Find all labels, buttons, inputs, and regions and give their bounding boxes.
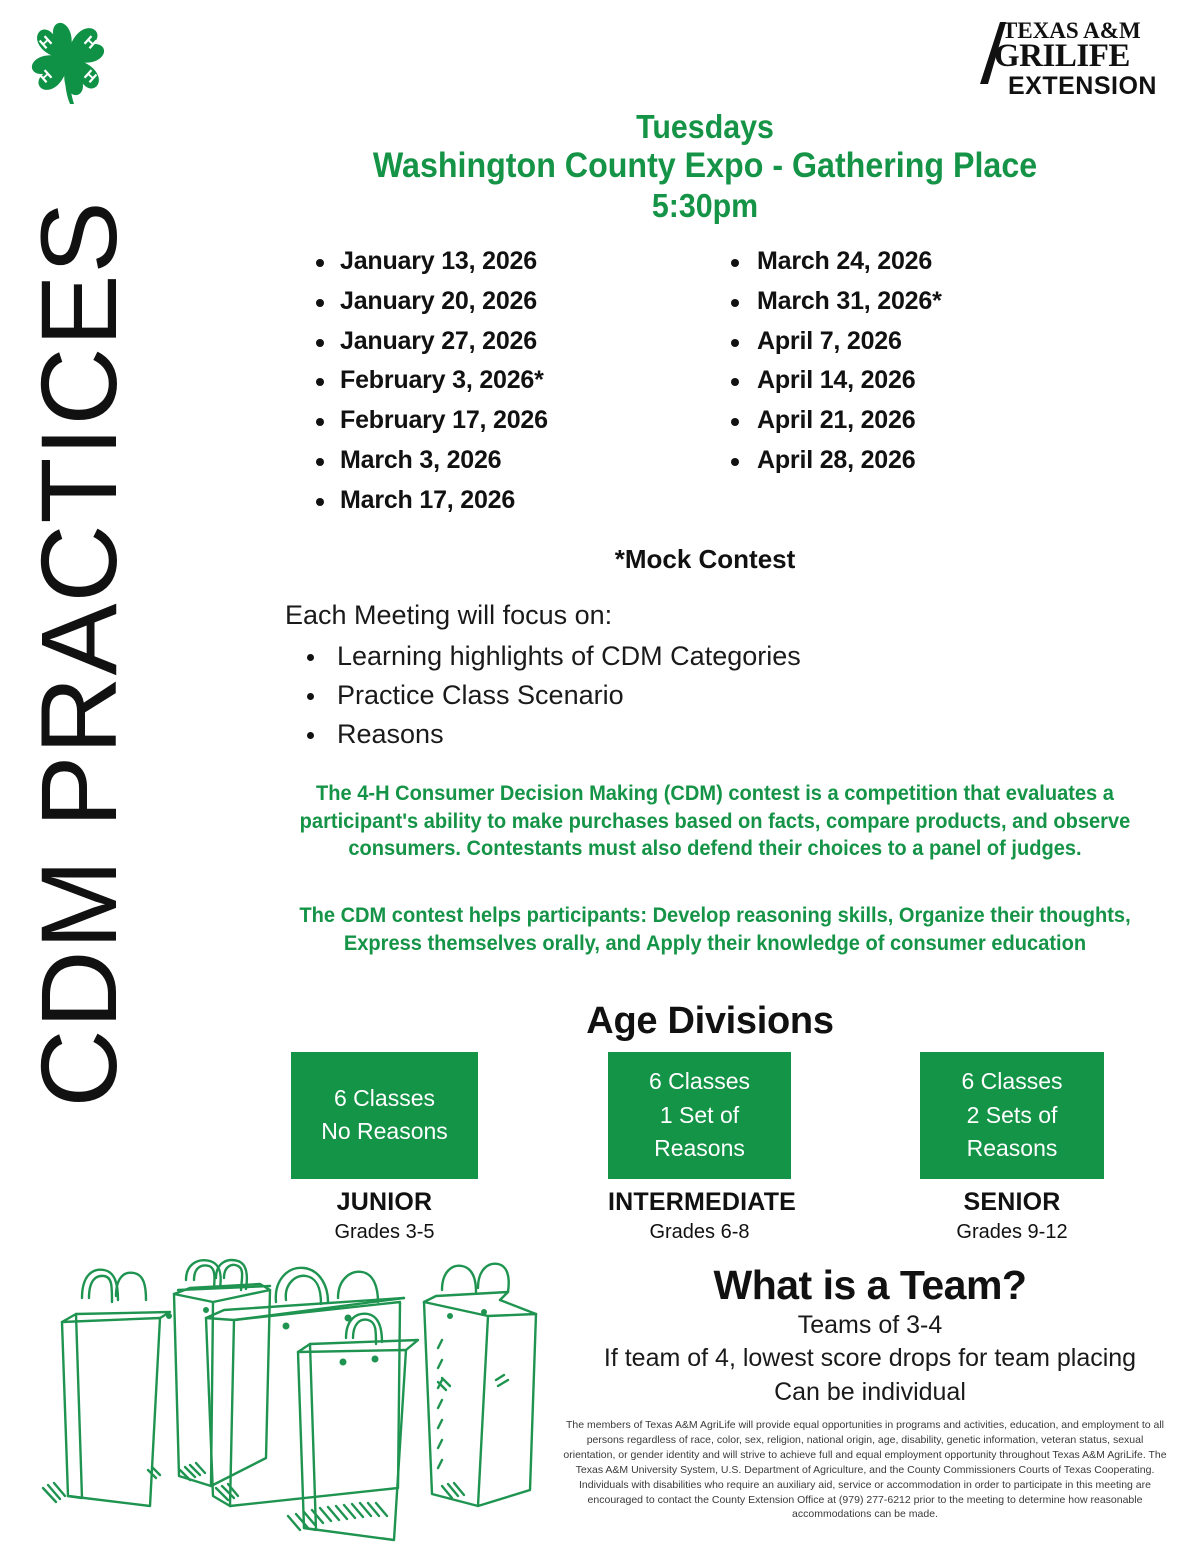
division-box-line: 1 Set of [660,1099,739,1132]
division-intermediate: 6 Classes 1 Set of Reasons INTERMEDIATE … [608,1052,791,1244]
date-item: February 3, 2026* [300,361,715,401]
division-intermediate-grades: Grades 6-8 [608,1221,791,1244]
team-line: Can be individual [560,1376,1180,1409]
date-item: March 31, 2026* [715,282,1130,322]
focus-intro: Each Meeting will focus on: [285,598,985,633]
date-item: March 24, 2026 [715,242,1130,282]
dates-column-right: March 24, 2026 March 31, 2026* April 7, … [715,242,1130,520]
event-header: Tuesdays Washington County Expo - Gather… [286,108,1123,225]
age-divisions-group: 6 Classes No Reasons JUNIOR Grades 3-5 6… [250,1052,1170,1252]
cdm-benefits-paragraph: The CDM contest helps participants: Deve… [285,902,1145,957]
mock-contest-note: *Mock Contest [250,544,1160,575]
date-item: April 14, 2026 [715,361,1130,401]
division-senior-name: SENIOR [920,1188,1104,1217]
shopping-bags-illustration [38,1258,568,1548]
date-item: February 17, 2026 [300,401,715,441]
focus-item: Learning highlights of CDM Categories [285,637,985,676]
date-item: April 28, 2026 [715,441,1130,481]
team-title: What is a Team? [560,1262,1180,1309]
date-item: April 7, 2026 [715,322,1130,362]
division-box-line: 6 Classes [962,1065,1063,1098]
meeting-focus-section: Each Meeting will focus on: Learning hig… [285,598,985,754]
division-intermediate-name: INTERMEDIATE [608,1188,791,1217]
focus-item: Practice Class Scenario [285,676,985,715]
division-junior-name: JUNIOR [291,1188,478,1217]
division-junior-box: 6 Classes No Reasons [291,1052,478,1179]
cdm-description-paragraph: The 4-H Consumer Decision Making (CDM) c… [285,780,1145,863]
division-intermediate-box: 6 Classes 1 Set of Reasons [608,1052,791,1179]
division-junior: 6 Classes No Reasons JUNIOR Grades 3-5 [291,1052,478,1244]
focus-item: Reasons [285,715,985,754]
date-item: March 3, 2026 [300,441,715,481]
division-box-line: No Reasons [321,1115,448,1148]
practice-dates: January 13, 2026 January 20, 2026 Januar… [300,242,1130,520]
team-line: If team of 4, lowest score drops for tea… [560,1342,1180,1375]
date-item: January 27, 2026 [300,322,715,362]
header-line-day: Tuesdays [286,108,1123,146]
division-senior-box: 6 Classes 2 Sets of Reasons [920,1052,1104,1179]
svg-text:GRILIFE: GRILIFE [994,38,1130,74]
page-title-vertical: CDM PRACTICES [25,19,133,1289]
header-line-time: 5:30pm [286,187,1123,225]
division-box-line: Reasons [654,1132,745,1165]
agrilife-extension-logo: TEXAS A&M GRILIFE EXTENSION [972,8,1172,100]
what-is-a-team-section: What is a Team? Teams of 3-4 If team of … [560,1262,1180,1409]
division-senior: 6 Classes 2 Sets of Reasons SENIOR Grade… [920,1052,1104,1244]
dates-column-left: January 13, 2026 January 20, 2026 Januar… [300,242,715,520]
age-divisions-title: Age Divisions [260,1000,1160,1043]
date-item: April 21, 2026 [715,401,1130,441]
date-item: March 17, 2026 [300,481,715,521]
date-item: January 20, 2026 [300,282,715,322]
division-box-line: 2 Sets of [967,1099,1058,1132]
division-box-line: 6 Classes [649,1065,750,1098]
svg-text:EXTENSION: EXTENSION [1008,72,1157,100]
header-line-location: Washington County Expo - Gathering Place [286,146,1123,187]
division-senior-grades: Grades 9-12 [920,1221,1104,1244]
division-box-line: Reasons [967,1132,1058,1165]
date-item: January 13, 2026 [300,242,715,282]
flyer-page: H H H H TEXAS A&M GRILIFE EXTENSION CDM … [0,0,1200,1553]
division-box-line: 6 Classes [334,1082,435,1115]
team-line: Teams of 3-4 [560,1309,1180,1342]
division-junior-grades: Grades 3-5 [291,1221,478,1244]
equal-opportunity-disclaimer: The members of Texas A&M AgriLife will p… [560,1418,1170,1522]
